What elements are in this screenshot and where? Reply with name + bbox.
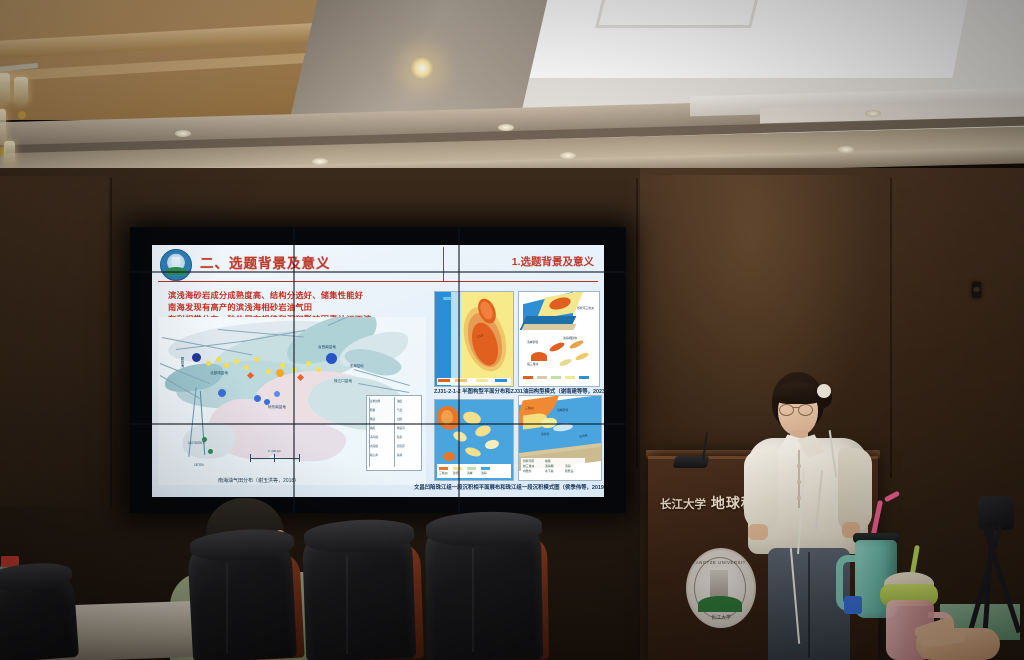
figure-depositional-model: 浅海相 三角洲 滨岸砂坝 席状砂 辫状平原 前缘 前三角洲 浅海棚 滨海 内陆架… — [518, 395, 602, 481]
lcd-video-wall[interactable]: 二、选题背景及意义 1.选题背景及意义 滨浅海砂岩成分成熟度高、结构分选好、储集… — [130, 227, 626, 513]
conference-chair-2[interactable] — [186, 524, 318, 660]
presenter-hand-left — [748, 524, 768, 540]
presenter-glasses-right-lens — [798, 404, 813, 416]
conference-chair-1[interactable] — [0, 560, 90, 660]
ceiling-downlight-4 — [312, 158, 328, 165]
figure-basin-map: 北部湾盆地 台西南盆地 珠江口盆地 琼东南盆地 东海盆地 莺歌海 110°00'… — [158, 317, 426, 485]
presentation-slide: 二、选题背景及意义 1.选题背景及意义 滨浅海砂岩成分成熟度高、结构分选好、储集… — [152, 245, 604, 497]
figure-facies-plan: 三角洲 砂坝 滨岸 浅海 — [434, 399, 514, 481]
wall-speaker — [972, 282, 981, 298]
figure-block-model: 辫状河三角洲 浅海相砂体 滨岸砂坝 扇三角洲 — [518, 291, 600, 387]
ceiling-downlight-1 — [175, 130, 191, 137]
presenter-hair-scrunchie — [817, 384, 831, 398]
wall-seam-3 — [890, 178, 892, 478]
conference-chair-3[interactable] — [300, 520, 440, 660]
presenter-hair-front — [774, 382, 822, 404]
figure-facies-caption: 文昌凹陷珠江组一段沉积相平面展布和珠江组一段沉积模式图（侯季伟等，2019） — [414, 483, 604, 491]
slide-section-title: 二、选题背景及意义 — [200, 252, 331, 272]
university-logo-icon — [160, 249, 192, 281]
presenter — [742, 372, 878, 660]
ceiling — [0, 0, 1024, 175]
presenter-shirt-button-1 — [797, 464, 801, 468]
conference-chair-4[interactable] — [420, 514, 570, 660]
slide-header-rule — [158, 281, 598, 282]
videowall-seam-h1 — [130, 271, 626, 273]
presenter-glasses-left-lens — [779, 404, 794, 416]
figure-basin-map-caption: 南海油气田分布（谢玉洪等，2018） — [218, 477, 299, 484]
map-legend: 盆地边界 油田 断裂 气田 隆起 凹陷 坳陷 构造带 海岸线 陆架 水深线 研究… — [366, 395, 422, 471]
videowall-seam-h2 — [130, 423, 626, 425]
wall-seam-1 — [110, 178, 112, 508]
presenter-sleeve-left — [744, 450, 778, 530]
ceiling-downlight-3 — [865, 110, 881, 117]
slide-bullet-1: 滨浅海砂岩成分成熟度高、结构分选好、储集性能好 — [168, 289, 363, 301]
presenter-glasses-bridge — [793, 407, 799, 408]
podium-microphone[interactable] — [674, 456, 718, 474]
ceiling-downlight-5 — [560, 152, 576, 159]
ceiling-spotlight — [410, 56, 434, 80]
emblem-building-icon — [710, 570, 728, 598]
slide-bullet-2: 南海发现有高产的滨浅海相砂岩油气田 — [168, 301, 312, 313]
slide-section-title-right: 1.选题背景及意义 — [512, 254, 594, 269]
presenter-sleeve-right — [838, 448, 872, 532]
wall-panel-left — [0, 176, 108, 506]
videowall-seam-v2 — [458, 227, 460, 513]
small-blue-object — [844, 596, 862, 614]
wall-seam-2 — [636, 178, 638, 468]
presenter-shirt-button-2 — [797, 480, 801, 484]
presenter-trouser-seam — [808, 552, 810, 658]
screenshot-root: 二、选题背景及意义 1.选题背景及意义 滨浅海砂岩成分成熟度高、结构分选好、储集… — [0, 0, 1024, 660]
chandelier — [0, 55, 56, 175]
emblem-hill-icon — [698, 596, 742, 612]
figure-structure-plan: ZJ31 — [434, 291, 514, 387]
tripod-head — [978, 496, 1014, 530]
podium-institution: 长江大学 — [660, 499, 706, 511]
slide-title-divider — [443, 247, 444, 281]
ceiling-downlight-6 — [838, 146, 854, 153]
ceiling-downlight-2 — [498, 124, 514, 131]
videowall-seam-v1 — [293, 227, 295, 513]
